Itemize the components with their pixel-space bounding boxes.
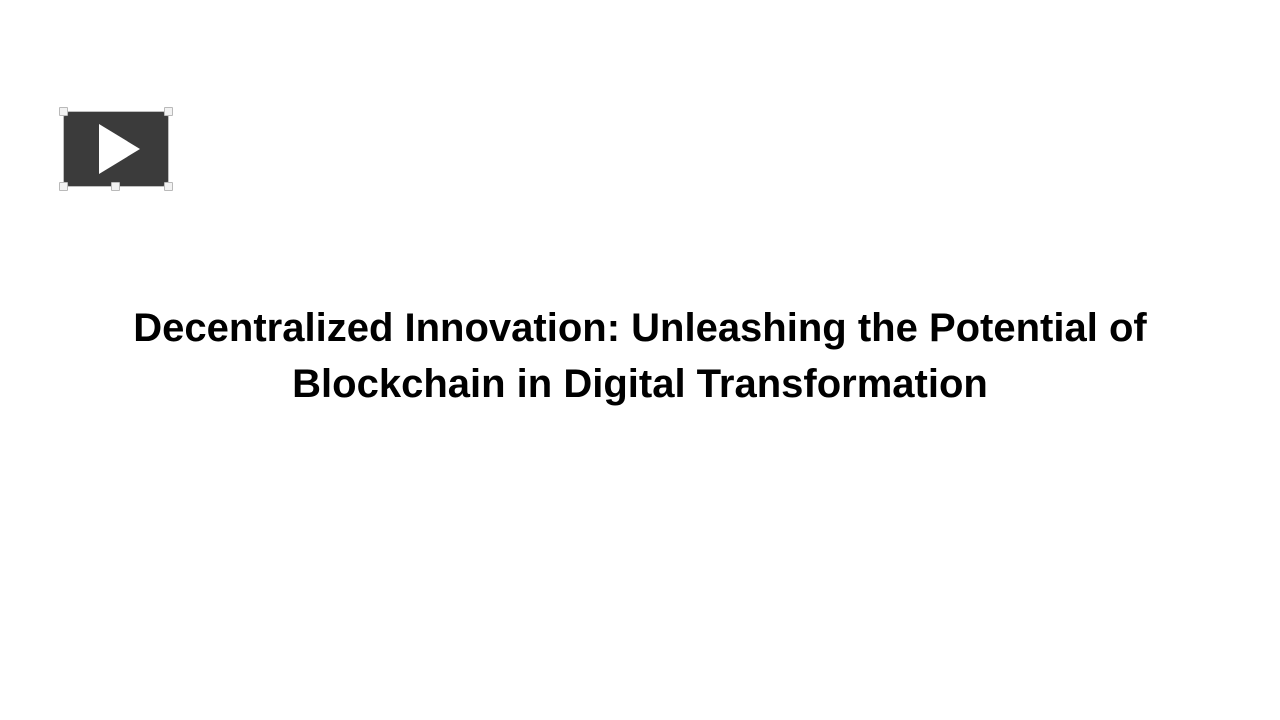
page-title: Decentralized Innovation: Unleashing the…: [80, 300, 1200, 412]
video-frame[interactable]: [64, 112, 168, 186]
selection-handle-bottom-center[interactable]: [111, 182, 120, 191]
selection-handle-top-right[interactable]: [164, 107, 173, 116]
selection-handle-bottom-right[interactable]: [164, 182, 173, 191]
video-placeholder-object[interactable]: [64, 112, 168, 186]
play-icon[interactable]: [99, 124, 140, 174]
slide-canvas[interactable]: Decentralized Innovation: Unleashing the…: [0, 0, 1280, 720]
selection-handle-bottom-left[interactable]: [59, 182, 68, 191]
selection-handle-top-left[interactable]: [59, 107, 68, 116]
